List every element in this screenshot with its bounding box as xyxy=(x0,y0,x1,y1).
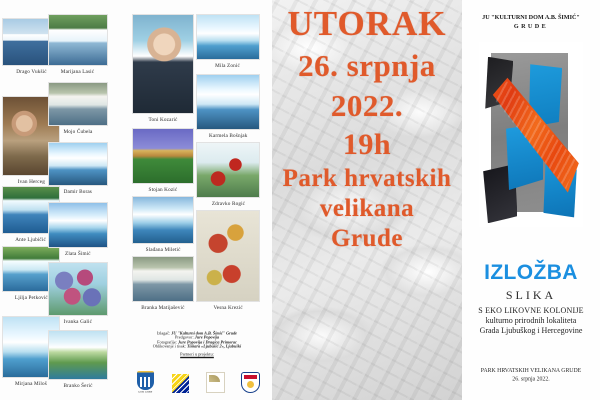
artwork-caption: Ivanka Galić xyxy=(64,317,93,326)
gallery-item[interactable]: Zdravko Rogić xyxy=(196,142,260,205)
artwork-caption: Stojan Kozić xyxy=(149,185,178,194)
artwork-caption: Zlata Šimić xyxy=(65,249,91,258)
artwork-image xyxy=(196,210,260,302)
artwork-image xyxy=(196,14,260,60)
gallery-item[interactable]: Damir Boras xyxy=(48,142,108,193)
right-panel: JU "KULTURNI DOM A.B. ŠIMIĆ" GRUDE IZLOŽ… xyxy=(462,0,600,400)
artwork-caption: Ljilja Petković xyxy=(14,293,47,302)
event-venue-line3: Grude xyxy=(331,226,403,251)
description-line-1: S EKO LIKOVNE KOLONIJE xyxy=(466,306,596,316)
organizer-header: JU "KULTURNI DOM A.B. ŠIMIĆ" GRUDE xyxy=(428,13,600,31)
artwork-image xyxy=(132,128,194,184)
exhibition-description: S EKO LIKOVNE KOLONIJE kulturno prirodni… xyxy=(466,306,596,336)
center-text-stack: UTORAK 26. srpnja 2022. 19h Park hrvatsk… xyxy=(272,0,462,400)
artwork-image xyxy=(132,14,194,114)
artwork-caption: Vesna Krezić xyxy=(213,303,242,312)
crest-county-icon xyxy=(241,372,260,393)
partners-title: Partneri u projektu: xyxy=(107,351,286,357)
artwork-caption: Ante Ljubičić xyxy=(16,235,47,244)
event-time: 19h xyxy=(343,130,391,160)
gallery-item[interactable]: Stojan Kozić xyxy=(132,128,194,191)
exhibition-title: IZLOŽBA xyxy=(462,262,600,283)
event-venue-line2: velikana xyxy=(320,196,414,221)
artwork-caption: Branka Matijašević xyxy=(141,303,184,312)
description-line-2: kulturno prirodnih lokaliteta xyxy=(466,316,596,326)
partner-logos: Grad Grude xyxy=(133,371,263,394)
right-footer: PARK HRVATSKIH VELIKANA GRUDE 26. srpnja… xyxy=(431,366,600,383)
artwork-caption: Mirjana Miloš xyxy=(15,379,47,388)
flag-bih-icon xyxy=(172,374,189,393)
artwork-caption: Drago Vukšić xyxy=(16,67,46,76)
gallery-item[interactable]: Mila Zonić xyxy=(196,14,260,67)
gallery-item[interactable]: Ivanka Galić xyxy=(48,262,108,323)
artwork-caption: Marijana Lasić xyxy=(61,67,94,76)
credits-block: Izlagač: JU "Kulturni dom A.B. Šimić" Gr… xyxy=(133,331,261,356)
gallery-item[interactable]: Zlata Šimić xyxy=(48,202,108,255)
partner-logo-bih[interactable] xyxy=(168,374,192,394)
gallery-item[interactable]: Marijana Lasić xyxy=(48,14,108,73)
event-day: UTORAK xyxy=(288,6,447,41)
center-announcement-panel: UTORAK 26. srpnja 2022. 19h Park hrvatsk… xyxy=(272,0,462,400)
artwork-caption: Karmela Bošnjak xyxy=(209,131,248,140)
gallery-item[interactable]: Slađana Miletić xyxy=(132,196,194,251)
artwork-image xyxy=(48,142,108,186)
gallery-item[interactable]: Vesna Krezić xyxy=(196,210,260,309)
partner-logo-county[interactable] xyxy=(239,372,263,394)
artwork-image xyxy=(132,256,194,302)
gallery-item[interactable]: Toni Kozarić xyxy=(132,14,194,121)
exhibition-subtitle: SLIKA xyxy=(462,288,600,303)
gallery-item[interactable]: Branka Matijašević xyxy=(132,256,194,309)
artwork-image xyxy=(48,262,108,316)
artwork-image xyxy=(48,330,108,380)
event-year: 2022. xyxy=(331,90,403,121)
artwork-image xyxy=(48,82,108,126)
artwork-caption: Zdravko Rogić xyxy=(211,199,244,208)
cover-artwork-abstract xyxy=(479,42,583,227)
event-venue-line1: Park hrvatskih xyxy=(283,166,452,191)
organizer-line-2: GRUDE xyxy=(428,22,600,31)
artwork-caption: Toni Kozarić xyxy=(148,115,177,124)
artwork-image xyxy=(196,142,260,198)
footer-date: 26. srpnja 2022. xyxy=(431,375,600,384)
artwork-image xyxy=(196,74,260,130)
description-line-3: Grada Ljubuškog i Hercegovine xyxy=(466,326,596,336)
artwork-caption: Slađana Miletić xyxy=(145,245,180,254)
artwork-caption: Ivan Herceg xyxy=(17,177,44,186)
partner-logo-ministry[interactable] xyxy=(204,372,228,394)
gallery-item[interactable]: Branko Šerić xyxy=(48,330,108,387)
artwork-image xyxy=(48,202,108,248)
artwork-caption: Mila Zonić xyxy=(216,61,241,70)
partner-logo-grude[interactable]: Grad Grude xyxy=(133,371,157,394)
organizer-line-1: JU "KULTURNI DOM A.B. ŠIMIĆ" xyxy=(428,13,600,22)
footer-venue: PARK HRVATSKIH VELIKANA GRUDE xyxy=(431,366,600,375)
artwork-image xyxy=(132,196,194,244)
artwork-caption: Damir Boras xyxy=(64,187,92,196)
artwork-caption: Branko Šerić xyxy=(63,381,92,390)
crest-grude-icon xyxy=(137,371,154,390)
artwork-caption: Mojo Čubela xyxy=(64,127,93,136)
poster: Drago Vukšić Ivan Herceg Ante Ljubičić L… xyxy=(0,0,600,400)
gallery-item[interactable]: Mojo Čubela xyxy=(48,82,108,133)
partner-logo-label: Grad Grude xyxy=(138,391,152,395)
event-date: 26. srpnja xyxy=(298,50,436,81)
artwork-gallery: Drago Vukšić Ivan Herceg Ante Ljubičić L… xyxy=(0,0,272,400)
ministry-icon xyxy=(206,372,225,393)
gallery-item[interactable]: Karmela Bošnjak xyxy=(196,74,260,137)
credit-line-print: Oblikovanje i tisak: Tiskara »Ljubušić 2… xyxy=(107,343,286,349)
artwork-image xyxy=(48,14,108,66)
